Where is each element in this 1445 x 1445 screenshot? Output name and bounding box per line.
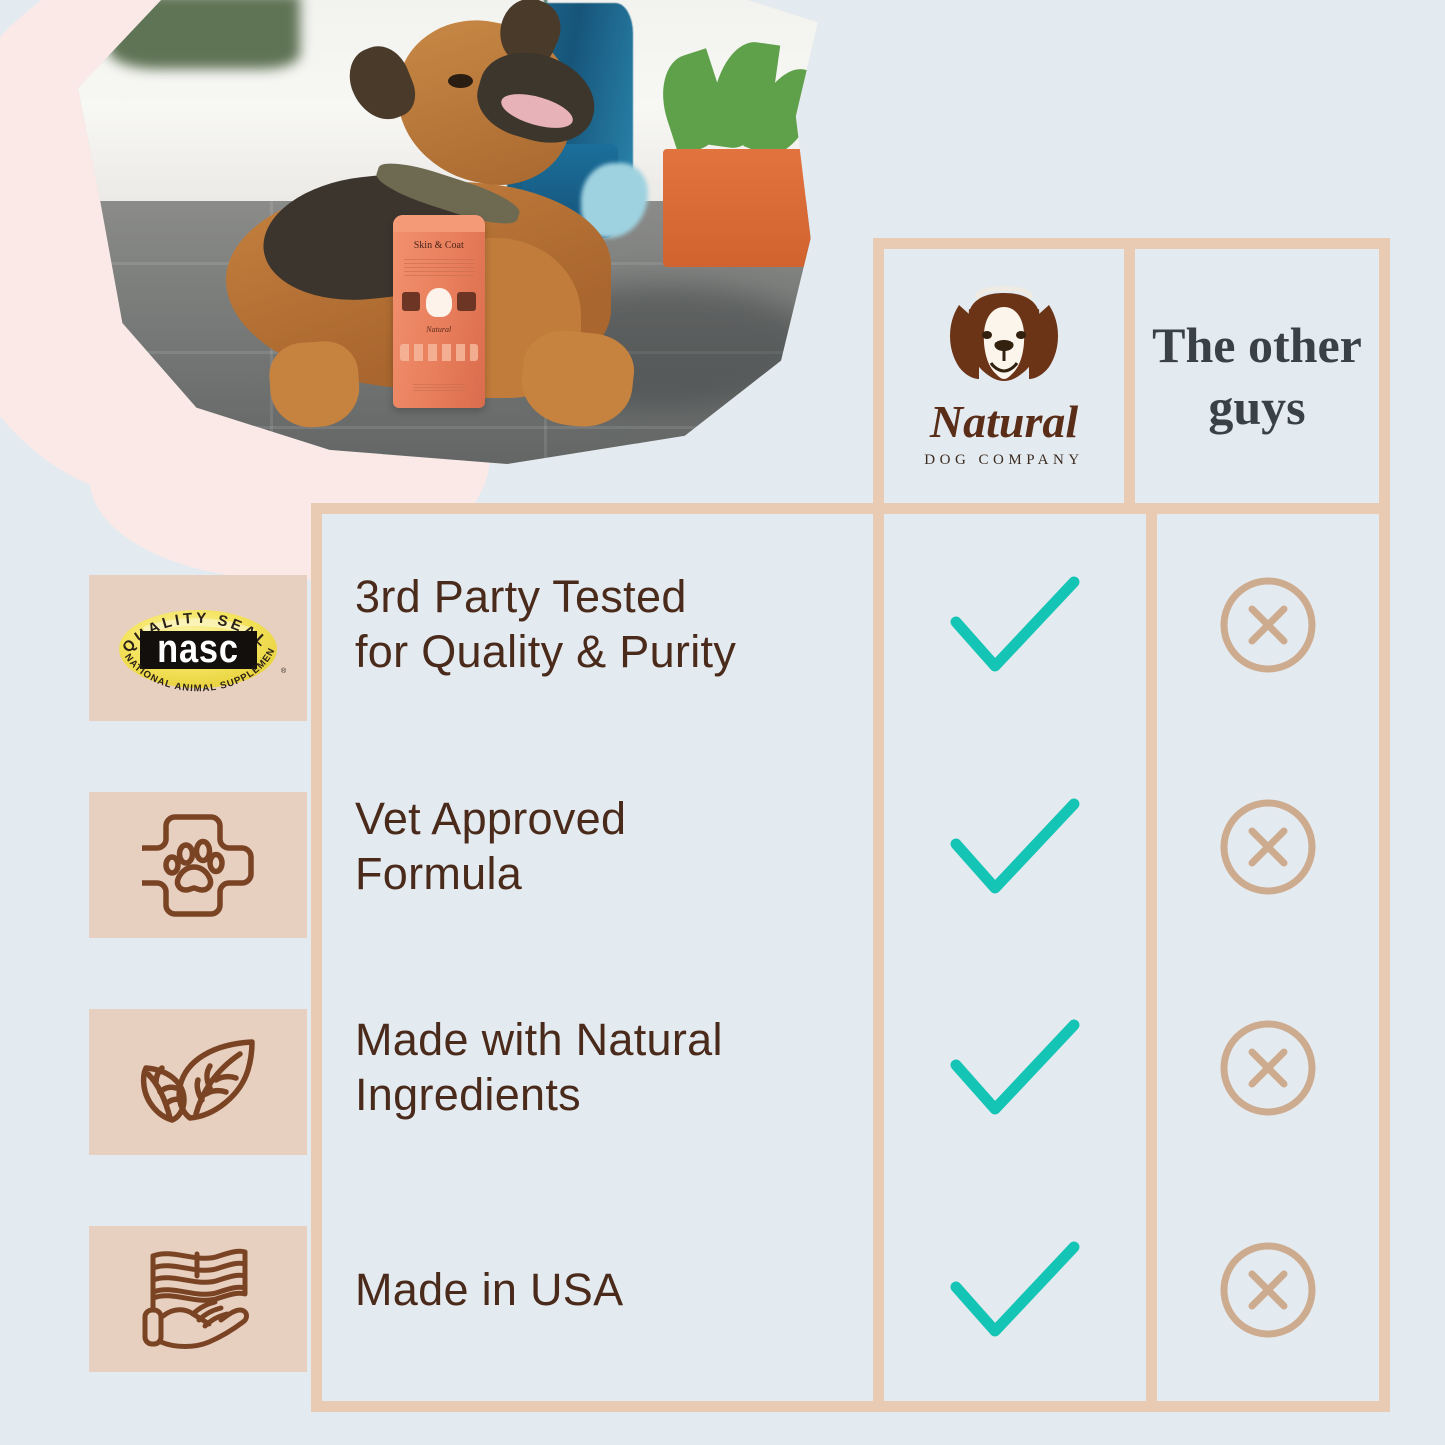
other-guys-column	[1146, 514, 1379, 1401]
other-mark-cell	[1157, 514, 1379, 736]
icon-badge-made-in-usa	[89, 1226, 307, 1372]
icon-badge-nasc: QUALITY SEAL nasc NATIONAL ANIMAL SUPPLE…	[89, 575, 307, 721]
brand-wordmark: Natural	[930, 399, 1078, 445]
leaves-icon	[136, 1030, 260, 1134]
dog-head-halo-logo-icon	[929, 283, 1079, 395]
product-label-title: Skin & Coat	[393, 240, 486, 251]
svg-text:nasc: nasc	[157, 626, 239, 671]
svg-text:®: ®	[281, 667, 287, 675]
feature-label-line-1: Vet Approved	[355, 792, 626, 847]
infographic-canvas: Skin & Coat Natural	[0, 0, 1445, 1445]
feature-icon-column: QUALITY SEAL nasc NATIONAL ANIMAL SUPPLE…	[89, 575, 307, 1372]
other-mark-cell	[1157, 1179, 1379, 1401]
circle-x-icon	[1216, 573, 1320, 677]
product-tin: Skin & Coat Natural	[393, 215, 486, 408]
usa-flag-hand-icon	[135, 1246, 261, 1352]
icon-badge-natural-ingredients	[89, 1009, 307, 1155]
other-guys-line-1: The other	[1152, 314, 1362, 376]
table-row: 3rd Party Tested for Quality & Purity	[322, 514, 873, 736]
brand-mark-cell	[884, 958, 1146, 1180]
paw-medical-cross-icon	[142, 810, 254, 920]
feature-label-line-1: 3rd Party Tested	[355, 570, 736, 625]
check-icon	[940, 788, 1090, 906]
hero-photo: Skin & Coat Natural	[78, 0, 818, 464]
check-icon	[940, 1009, 1090, 1127]
feature-label-line-2: Formula	[355, 847, 626, 902]
circle-x-icon	[1216, 1016, 1320, 1120]
other-mark-cell	[1157, 958, 1379, 1180]
check-icon	[940, 1231, 1090, 1349]
table-header-row: Natural DOG COMPANY The other guys	[873, 238, 1390, 503]
column-header-brand: Natural DOG COMPANY	[873, 238, 1135, 503]
circle-x-icon	[1216, 795, 1320, 899]
brand-mark-cell	[884, 1179, 1146, 1401]
icon-badge-vet-approved	[89, 792, 307, 938]
other-mark-cell	[1157, 736, 1379, 958]
feature-label-line-1: Made with Natural	[355, 1013, 723, 1068]
product-label-script: Natural	[393, 325, 486, 334]
nasc-quality-seal-icon: QUALITY SEAL nasc NATIONAL ANIMAL SUPPLE…	[105, 589, 291, 707]
table-row: Vet Approved Formula	[322, 736, 873, 958]
column-header-other-guys: The other guys	[1135, 238, 1390, 503]
brand-column	[873, 514, 1146, 1401]
feature-label-line-2: Ingredients	[355, 1068, 723, 1123]
brand-mark-cell	[884, 514, 1146, 736]
table-row: Made with Natural Ingredients	[322, 958, 873, 1180]
other-guys-line-2: guys	[1152, 376, 1362, 438]
table-row: Made in USA	[322, 1179, 873, 1401]
brand-tagline: DOG COMPANY	[924, 452, 1083, 469]
brand-mark-cell	[884, 736, 1146, 958]
comparison-table: 3rd Party Tested for Quality & Purity Ve…	[311, 503, 1390, 1412]
feature-column: 3rd Party Tested for Quality & Purity Ve…	[322, 514, 873, 1401]
feature-label-line-2: for Quality & Purity	[355, 625, 736, 680]
circle-x-icon	[1216, 1238, 1320, 1342]
check-icon	[940, 566, 1090, 684]
feature-label-line-1: Made in USA	[355, 1263, 623, 1318]
